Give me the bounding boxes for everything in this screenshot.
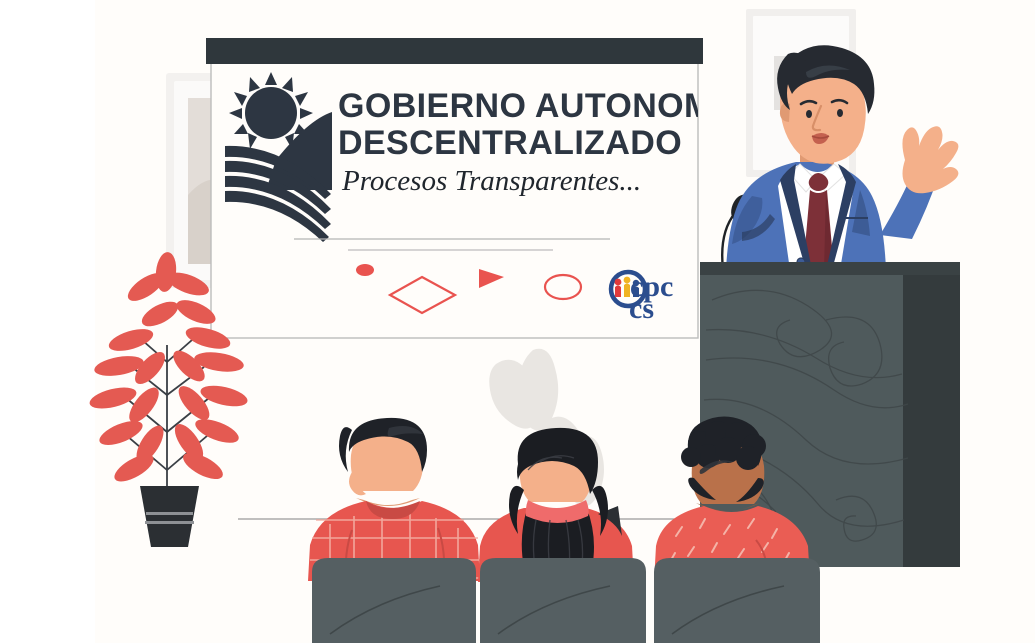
red-dot-shape bbox=[356, 264, 374, 276]
cpccs-text-bottom: cs bbox=[629, 292, 654, 325]
slide-title-line-1: GOBIERNO AUTONOMO bbox=[338, 87, 740, 125]
illustration-scene: GOBIERNO AUTONOMO DESCENTRALIZADO Proces… bbox=[0, 0, 1035, 643]
scene-svg: GOBIERNO AUTONOMO DESCENTRALIZADO Proces… bbox=[0, 0, 1035, 643]
slide-tagline: Procesos Transparentes... bbox=[341, 165, 641, 197]
slide-title-line-2: DESCENTRALIZADO bbox=[338, 124, 682, 162]
